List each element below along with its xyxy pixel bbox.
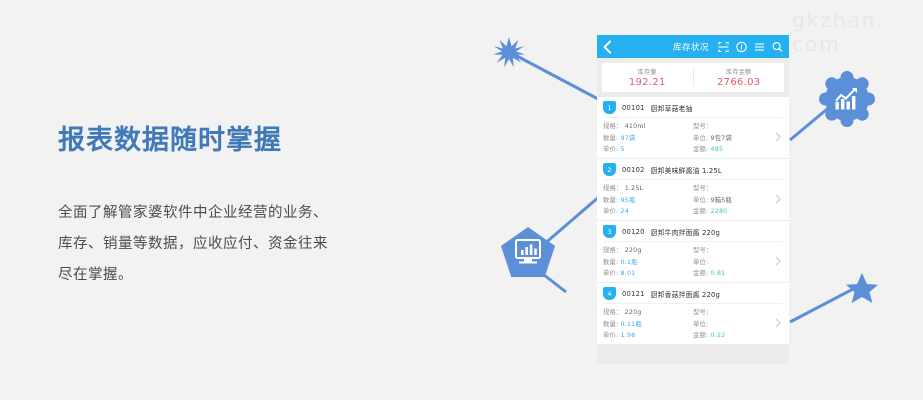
row-details: 规格： 220g 数量: 0.11瓶 单价: 1.98 型号： 单位: 金额: …	[603, 307, 783, 339]
row-price: 单价: 5	[603, 144, 693, 153]
row-right-column: 型号： 单位: 9包7袋 金额: 485	[693, 121, 783, 153]
row-header: 2 00102 厨邦美味鲜酱油 1.25L	[603, 163, 783, 176]
row-product-name: 厨邦草菇老抽	[651, 103, 693, 113]
row-spec-value: 1.25L	[625, 185, 644, 192]
promo-line-2: 库存、销量等数据，应收应付、资金往来	[58, 229, 388, 260]
row-index-badge: 3	[603, 225, 616, 238]
chevron-right-icon[interactable]	[775, 194, 781, 204]
summary-card: 库存量 192.21 库存金额 2766.03	[602, 63, 784, 92]
row-amount: 金额: 2280	[693, 206, 783, 215]
search-icon[interactable]	[772, 41, 783, 52]
row-qty-value: 0.11瓶	[621, 321, 642, 328]
row-qty: 数量: 95瓶	[603, 195, 693, 204]
row-left-column: 规格： 220g 数量: 0.11瓶 单价: 1.98	[603, 307, 693, 339]
row-amount: 金额: 0.81	[693, 268, 783, 277]
table-row[interactable]: 3 00120 厨邦牛肉拌面酱 220g 规格： 220g 数量: 0.1瓶 单…	[597, 221, 789, 282]
row-spec-value: 220g	[625, 247, 642, 254]
nav-title: 库存状况	[673, 41, 709, 53]
row-left-column: 规格： 220g 数量: 0.1瓶 单价: 8.01	[603, 245, 693, 277]
chevron-right-icon[interactable]	[775, 256, 781, 266]
back-chevron-icon[interactable]	[603, 40, 612, 53]
row-left-column: 规格： 1.25L 数量: 95瓶 单价: 24	[603, 183, 693, 215]
row-spec: 规格： 220g	[603, 245, 693, 254]
summary-label: 库存量	[638, 67, 657, 76]
row-model: 型号：	[693, 183, 783, 192]
row-price: 单价: 8.01	[603, 268, 693, 277]
row-qty: 数量: 97袋	[603, 133, 693, 142]
row-right-column: 型号： 单位: 9箱5瓶 金额: 2280	[693, 183, 783, 215]
row-spec: 规格： 1.25L	[603, 183, 693, 192]
row-unit-value: 9箱5瓶	[711, 197, 732, 204]
row-amount-value: 2280	[711, 208, 728, 215]
row-divider	[603, 117, 783, 118]
row-index-badge: 1	[603, 101, 616, 114]
row-model: 型号：	[693, 121, 783, 130]
row-unit-value: 9包7袋	[711, 135, 732, 142]
row-spec-value: 410ml	[625, 123, 646, 130]
row-model: 型号：	[693, 245, 783, 254]
row-divider	[603, 179, 783, 180]
row-details: 规格： 220g 数量: 0.1瓶 单价: 8.01 型号： 单位: 金额: 0…	[603, 245, 783, 277]
row-qty-value: 0.1瓶	[621, 259, 638, 266]
summary-stock-amount: 库存金额 2766.03	[694, 67, 785, 88]
monitor-chart-badge	[500, 226, 556, 280]
row-index-badge: 2	[603, 163, 616, 176]
row-unit: 单位:	[693, 257, 783, 266]
row-amount-value: 0.22	[711, 332, 726, 339]
row-right-column: 型号： 单位: 金额: 0.22	[693, 307, 783, 339]
table-row[interactable]: 1 00101 厨邦草菇老抽 规格： 410ml 数量: 97袋 单价: 5 型…	[597, 97, 789, 158]
phone-mockup: 库存状况	[597, 35, 789, 364]
row-product-name: 厨邦香菇拌面酱 220g	[651, 289, 720, 299]
row-header: 4 00121 厨邦香菇拌面酱 220g	[603, 287, 783, 300]
app-nav-bar: 库存状况	[597, 35, 789, 58]
row-model: 型号：	[693, 307, 783, 316]
row-price: 单价: 24	[603, 206, 693, 215]
list-icon[interactable]	[754, 41, 765, 52]
row-price-value: 1.98	[621, 332, 636, 339]
promo-line-3: 尽在掌握。	[58, 260, 388, 291]
info-icon[interactable]	[736, 41, 747, 52]
summary-value: 192.21	[629, 77, 666, 88]
row-left-column: 规格： 410ml 数量: 97袋 单价: 5	[603, 121, 693, 153]
summary-label: 库存金额	[726, 67, 751, 76]
row-header: 3 00120 厨邦牛肉拌面酱 220g	[603, 225, 783, 238]
row-price: 单价: 1.98	[603, 330, 693, 339]
row-price-value: 24	[621, 208, 629, 215]
row-unit: 单位:	[693, 319, 783, 328]
row-spec: 规格： 220g	[603, 307, 693, 316]
row-unit: 单位: 9包7袋	[693, 133, 783, 142]
row-spec-value: 220g	[625, 309, 642, 316]
chevron-right-icon[interactable]	[775, 132, 781, 142]
row-amount: 金额: 0.22	[693, 330, 783, 339]
row-spec: 规格： 410ml	[603, 121, 693, 130]
row-amount: 金额: 485	[693, 144, 783, 153]
page-canvas: gkzhan. com	[0, 0, 923, 400]
row-code: 00120	[622, 228, 645, 236]
row-header: 1 00101 厨邦草菇老抽	[603, 101, 783, 114]
summary-stock-qty: 库存量 192.21	[602, 67, 693, 88]
row-details: 规格： 410ml 数量: 97袋 单价: 5 型号： 单位: 9包7袋 金额:…	[603, 121, 783, 153]
row-qty: 数量: 0.1瓶	[603, 257, 693, 266]
row-code: 00121	[622, 290, 645, 298]
row-index-badge: 4	[603, 287, 616, 300]
row-amount-value: 0.81	[711, 270, 726, 277]
promo-line-1: 全面了解管家婆软件中企业经营的业务、	[58, 198, 388, 229]
row-price-value: 8.01	[621, 270, 636, 277]
row-product-name: 厨邦美味鲜酱油 1.25L	[651, 165, 722, 175]
page-title: 报表数据随时掌握	[58, 118, 282, 157]
row-code: 00102	[622, 166, 645, 174]
promo-description: 全面了解管家婆软件中企业经营的业务、 库存、销量等数据，应收应付、资金往来 尽在…	[58, 198, 388, 291]
row-details: 规格： 1.25L 数量: 95瓶 单价: 24 型号： 单位: 9箱5瓶 金额…	[603, 183, 783, 215]
table-row[interactable]: 2 00102 厨邦美味鲜酱油 1.25L 规格： 1.25L 数量: 95瓶 …	[597, 159, 789, 220]
inventory-list: 1 00101 厨邦草菇老抽 规格： 410ml 数量: 97袋 单价: 5 型…	[597, 97, 789, 344]
row-divider	[603, 241, 783, 242]
row-product-name: 厨邦牛肉拌面酱 220g	[651, 227, 720, 237]
sparkle-badge	[492, 36, 526, 70]
row-price-value: 5	[621, 146, 625, 153]
summary-value: 2766.03	[717, 77, 760, 88]
row-right-column: 型号： 单位: 金额: 0.81	[693, 245, 783, 277]
table-row[interactable]: 4 00121 厨邦香菇拌面酱 220g 规格： 220g 数量: 0.11瓶 …	[597, 283, 789, 344]
scan-icon[interactable]	[718, 41, 729, 52]
row-unit: 单位: 9箱5瓶	[693, 195, 783, 204]
row-qty-value: 95瓶	[621, 197, 636, 204]
row-divider	[603, 303, 783, 304]
row-code: 00101	[622, 104, 645, 112]
row-qty: 数量: 0.11瓶	[603, 319, 693, 328]
list-bottom-space	[597, 345, 789, 364]
row-qty-value: 97袋	[621, 135, 636, 142]
chart-badge	[818, 70, 876, 128]
row-amount-value: 485	[711, 146, 724, 153]
star-badge	[845, 272, 879, 305]
nav-icon-group	[718, 41, 783, 52]
chevron-right-icon[interactable]	[775, 318, 781, 328]
